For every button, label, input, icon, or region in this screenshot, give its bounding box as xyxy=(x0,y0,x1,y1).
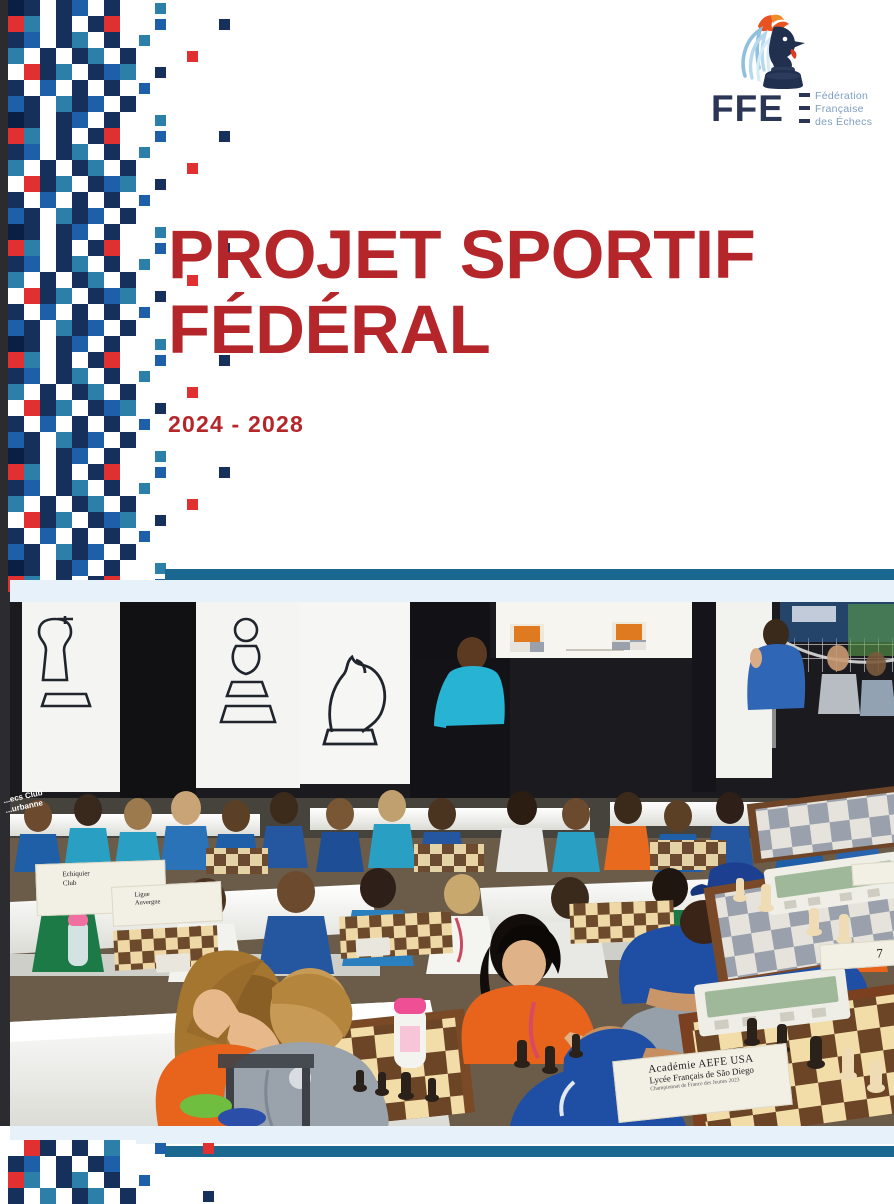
mosaic-cell xyxy=(104,544,120,560)
wordmark-bar-icon xyxy=(799,119,810,123)
mosaic-cell xyxy=(40,0,56,16)
mosaic-cell xyxy=(24,48,40,64)
mosaic-cell xyxy=(88,464,104,480)
mosaic-cell xyxy=(104,128,120,144)
mosaic-cell xyxy=(56,432,72,448)
mosaic-cell xyxy=(104,512,120,528)
mosaic-cell xyxy=(56,48,72,64)
mosaic-cell xyxy=(56,320,72,336)
mosaic-cell xyxy=(88,32,104,48)
mosaic-cell xyxy=(72,144,88,160)
mosaic-cell xyxy=(104,224,120,240)
mosaic-cell xyxy=(56,384,72,400)
mosaic-cell xyxy=(56,224,72,240)
mosaic-cell xyxy=(104,0,120,16)
mosaic-cell xyxy=(56,528,72,544)
mosaic-cell xyxy=(120,256,136,272)
mosaic-cell xyxy=(120,352,136,368)
mosaic-cell xyxy=(104,32,120,48)
mosaic-cell xyxy=(104,1156,120,1172)
mosaic-cell xyxy=(88,304,104,320)
mosaic-cell xyxy=(88,384,104,400)
mosaic-cell xyxy=(203,1143,214,1154)
mosaic-cell xyxy=(120,16,136,32)
mosaic-cell xyxy=(120,368,136,384)
logo-wordmark-line-3: des Échecs xyxy=(815,116,872,128)
mosaic-cell xyxy=(56,288,72,304)
mosaic-cell xyxy=(155,1143,166,1154)
mosaic-cell xyxy=(139,419,150,430)
logo-wordmark-line-2: Française xyxy=(815,103,864,115)
mosaic-cell xyxy=(104,240,120,256)
subtitle-years: 2024 - 2028 xyxy=(168,411,868,438)
mosaic-cell xyxy=(8,272,24,288)
mosaic-cell xyxy=(8,496,24,512)
mosaic-cell xyxy=(120,32,136,48)
mosaic-cell xyxy=(72,176,88,192)
mosaic-cell xyxy=(24,336,40,352)
mosaic-cell xyxy=(40,336,56,352)
mosaic-cell xyxy=(24,1156,40,1172)
mosaic-cell xyxy=(24,240,40,256)
mosaic-cell xyxy=(8,128,24,144)
mosaic-cell xyxy=(155,67,166,78)
mosaic-cell xyxy=(56,32,72,48)
mosaic-cell xyxy=(24,128,40,144)
mosaic-cell xyxy=(24,496,40,512)
mosaic-cell xyxy=(72,16,88,32)
mosaic-cell xyxy=(40,432,56,448)
mosaic-cell xyxy=(104,192,120,208)
mosaic-cell xyxy=(104,304,120,320)
mosaic-cell xyxy=(40,240,56,256)
mosaic-cell xyxy=(8,160,24,176)
mosaic-cell xyxy=(8,240,24,256)
mosaic-cell xyxy=(104,448,120,464)
mosaic-cell xyxy=(104,560,120,576)
mosaic-cell xyxy=(8,400,24,416)
mosaic-cell xyxy=(104,176,120,192)
mosaic-cell xyxy=(8,352,24,368)
mosaic-cell xyxy=(24,1140,40,1156)
mosaic-cell xyxy=(40,208,56,224)
mosaic-cell xyxy=(24,320,40,336)
mosaic-cell xyxy=(104,160,120,176)
logo-wordmark-line-1: Fédération xyxy=(815,90,868,102)
mosaic-cell xyxy=(187,51,198,62)
mosaic-cell xyxy=(88,480,104,496)
mosaic-cell xyxy=(88,448,104,464)
mosaic-cell xyxy=(139,147,150,158)
mosaic-cell xyxy=(56,112,72,128)
mosaic-cell xyxy=(139,35,150,46)
mosaic-cell xyxy=(8,528,24,544)
mosaic-cell xyxy=(120,112,136,128)
mosaic-cell xyxy=(56,400,72,416)
mosaic-cell xyxy=(24,144,40,160)
mosaic-cell xyxy=(72,32,88,48)
mosaic-cell xyxy=(56,240,72,256)
mosaic-cell xyxy=(8,176,24,192)
mosaic-cell xyxy=(8,1188,24,1204)
mosaic-cell xyxy=(8,320,24,336)
mosaic-cell xyxy=(40,528,56,544)
mosaic-cell xyxy=(24,16,40,32)
mosaic-cell xyxy=(72,304,88,320)
mosaic-cell xyxy=(88,240,104,256)
mosaic-cell xyxy=(104,48,120,64)
mosaic-cell xyxy=(24,192,40,208)
mosaic-cell xyxy=(104,480,120,496)
mosaic-cell xyxy=(8,224,24,240)
mosaic-cell xyxy=(104,288,120,304)
page-title: PROJET SPORTIF FÉDÉRAL xyxy=(168,218,868,367)
mosaic-cell xyxy=(120,128,136,144)
mosaic-cell xyxy=(24,208,40,224)
mosaic-cell xyxy=(120,64,136,80)
mosaic-cell xyxy=(40,384,56,400)
mosaic-cell xyxy=(24,304,40,320)
mosaic-cell xyxy=(8,368,24,384)
mosaic-cell xyxy=(56,1188,72,1204)
title-block: PROJET SPORTIF FÉDÉRAL 2024 - 2028 xyxy=(168,218,868,438)
mosaic-cell xyxy=(8,304,24,320)
mosaic-cell xyxy=(56,208,72,224)
mosaic-cell xyxy=(120,1140,136,1156)
mosaic-cell xyxy=(8,112,24,128)
mosaic-cell xyxy=(24,96,40,112)
mosaic-cell xyxy=(88,1188,104,1204)
mosaic-cell xyxy=(120,448,136,464)
mosaic-cell xyxy=(24,80,40,96)
mosaic-cell xyxy=(56,560,72,576)
checkerboard-mosaic-top xyxy=(8,0,188,592)
document-cover: FFE Fédération Française des Échecs PROJ… xyxy=(0,0,894,1194)
mosaic-cell xyxy=(120,160,136,176)
mosaic-cell xyxy=(72,1188,88,1204)
mosaic-cell xyxy=(56,64,72,80)
mosaic-cell xyxy=(24,560,40,576)
mosaic-cell xyxy=(88,144,104,160)
mosaic-cell xyxy=(72,528,88,544)
mosaic-cell xyxy=(8,432,24,448)
mosaic-cell xyxy=(120,176,136,192)
mosaic-cell xyxy=(8,256,24,272)
rooster-chess-piece-logo-icon xyxy=(727,12,809,90)
mosaic-cell xyxy=(24,512,40,528)
page-title-line-1: PROJET SPORTIF xyxy=(168,216,755,293)
mosaic-cell xyxy=(8,192,24,208)
photo-table-number-front: 7 xyxy=(819,939,894,970)
mosaic-cell xyxy=(120,400,136,416)
mosaic-cell xyxy=(120,48,136,64)
mosaic-cell xyxy=(8,416,24,432)
mosaic-cell xyxy=(104,496,120,512)
mosaic-cell xyxy=(219,467,230,478)
mosaic-cell xyxy=(56,80,72,96)
mosaic-cell xyxy=(88,400,104,416)
mosaic-cell xyxy=(88,112,104,128)
mosaic-cell xyxy=(40,1140,56,1156)
mosaic-cell xyxy=(88,16,104,32)
mosaic-cell xyxy=(104,352,120,368)
mosaic-cell xyxy=(24,384,40,400)
mosaic-cell xyxy=(203,1191,214,1202)
mosaic-cell xyxy=(72,368,88,384)
mosaic-cell xyxy=(8,144,24,160)
mosaic-cell xyxy=(56,192,72,208)
mosaic-cell xyxy=(24,288,40,304)
mosaic-cell xyxy=(72,448,88,464)
mosaic-cell xyxy=(40,1172,56,1188)
mosaic-cell xyxy=(72,224,88,240)
mosaic-cell xyxy=(56,96,72,112)
mosaic-cell xyxy=(40,560,56,576)
mosaic-cell xyxy=(88,368,104,384)
mosaic-cell xyxy=(187,163,198,174)
mosaic-cell xyxy=(88,320,104,336)
mosaic-cell xyxy=(72,288,88,304)
mosaic-cell xyxy=(219,19,230,30)
wordmark-bar-icon xyxy=(799,93,810,97)
mosaic-cell xyxy=(8,1172,24,1188)
mosaic-cell xyxy=(8,80,24,96)
mosaic-cell xyxy=(88,496,104,512)
mosaic-cell xyxy=(155,339,166,350)
mosaic-cell xyxy=(88,528,104,544)
mosaic-cell xyxy=(104,1188,120,1204)
mosaic-cell xyxy=(8,64,24,80)
mosaic-cell xyxy=(104,1140,120,1156)
mosaic-cell xyxy=(72,112,88,128)
mosaic-cell xyxy=(88,336,104,352)
mosaic-cell xyxy=(72,496,88,512)
mosaic-cell xyxy=(8,32,24,48)
mosaic-cell xyxy=(155,355,166,366)
mosaic-cell xyxy=(40,144,56,160)
mosaic-cell xyxy=(56,352,72,368)
mosaic-cell xyxy=(24,112,40,128)
mosaic-cell xyxy=(72,208,88,224)
mosaic-cell xyxy=(88,80,104,96)
mosaic-cell xyxy=(139,483,150,494)
mosaic-cell xyxy=(8,544,24,560)
mosaic-cell xyxy=(56,464,72,480)
mosaic-cell xyxy=(56,448,72,464)
mosaic-cell xyxy=(187,499,198,510)
mosaic-cell xyxy=(104,384,120,400)
mosaic-cell xyxy=(40,464,56,480)
mosaic-cell xyxy=(120,384,136,400)
mosaic-cell xyxy=(88,224,104,240)
mosaic-cell xyxy=(88,1140,104,1156)
mosaic-cell xyxy=(88,0,104,16)
mosaic-cell xyxy=(104,80,120,96)
teal-rule-top xyxy=(165,569,894,580)
mosaic-cell xyxy=(72,1156,88,1172)
mosaic-cell xyxy=(40,128,56,144)
mosaic-cell xyxy=(88,48,104,64)
mosaic-cell xyxy=(56,1140,72,1156)
mosaic-cell xyxy=(56,496,72,512)
mosaic-cell xyxy=(56,368,72,384)
mosaic-cell xyxy=(155,563,166,574)
mosaic-cell xyxy=(72,352,88,368)
mosaic-cell xyxy=(40,96,56,112)
mosaic-cell xyxy=(56,160,72,176)
mosaic-cell xyxy=(139,1175,150,1186)
mosaic-cell xyxy=(155,227,166,238)
mosaic-cell xyxy=(8,1156,24,1172)
mosaic-cell xyxy=(88,560,104,576)
mosaic-cell xyxy=(72,256,88,272)
mosaic-cell xyxy=(24,1188,40,1204)
mosaic-cell xyxy=(88,272,104,288)
teal-rule-bottom xyxy=(165,1146,894,1157)
mosaic-cell xyxy=(72,272,88,288)
mosaic-cell xyxy=(120,320,136,336)
mosaic-cell xyxy=(40,416,56,432)
logo-wordmark: Fédération Française des Échecs xyxy=(799,90,872,129)
mosaic-cell xyxy=(104,144,120,160)
mosaic-cell xyxy=(120,512,136,528)
mosaic-cell xyxy=(8,16,24,32)
mosaic-cell xyxy=(139,83,150,94)
mosaic-cell xyxy=(88,432,104,448)
mosaic-cell xyxy=(88,208,104,224)
photo-table-number-back: 6 xyxy=(851,860,894,886)
mosaic-cell xyxy=(40,112,56,128)
mosaic-cell xyxy=(104,432,120,448)
mosaic-cell xyxy=(88,288,104,304)
mosaic-cell xyxy=(72,80,88,96)
mosaic-cell xyxy=(40,16,56,32)
mosaic-cell xyxy=(40,176,56,192)
mosaic-cell xyxy=(88,544,104,560)
mosaic-cell xyxy=(155,19,166,30)
mosaic-cell xyxy=(139,531,150,542)
mosaic-cell xyxy=(40,1156,56,1172)
mosaic-cell xyxy=(104,16,120,32)
mosaic-cell xyxy=(40,272,56,288)
mosaic-cell xyxy=(56,416,72,432)
mosaic-cell xyxy=(155,515,166,526)
mosaic-cell xyxy=(40,64,56,80)
mosaic-cell xyxy=(72,320,88,336)
mosaic-cell xyxy=(104,112,120,128)
mosaic-cell xyxy=(72,160,88,176)
mosaic-cell xyxy=(56,256,72,272)
mosaic-cell xyxy=(56,176,72,192)
mosaic-cell xyxy=(8,208,24,224)
mosaic-cell xyxy=(40,288,56,304)
mosaic-cell xyxy=(24,416,40,432)
ffe-logo: FFE Fédération Française des Échecs xyxy=(711,12,876,130)
mosaic-cell xyxy=(56,16,72,32)
mosaic-cell xyxy=(104,464,120,480)
mosaic-cell xyxy=(40,512,56,528)
mosaic-cell xyxy=(155,3,166,14)
mosaic-cell xyxy=(72,240,88,256)
mosaic-cell xyxy=(40,400,56,416)
mosaic-cell xyxy=(24,32,40,48)
mosaic-cell xyxy=(155,131,166,142)
mosaic-cell xyxy=(56,336,72,352)
mosaic-cell xyxy=(24,272,40,288)
mosaic-cell xyxy=(104,64,120,80)
photo-table-sign-left-2: Ligue Auvergne xyxy=(111,881,223,927)
mosaic-cell xyxy=(8,1140,24,1156)
mosaic-cell xyxy=(40,160,56,176)
mosaic-cell xyxy=(104,368,120,384)
mosaic-cell xyxy=(40,368,56,384)
mosaic-cell xyxy=(88,160,104,176)
mosaic-cell xyxy=(139,371,150,382)
mosaic-cell xyxy=(40,1188,56,1204)
mosaic-cell xyxy=(24,400,40,416)
mosaic-cell xyxy=(56,304,72,320)
mosaic-cell xyxy=(72,48,88,64)
mosaic-cell xyxy=(88,64,104,80)
mosaic-cell xyxy=(72,432,88,448)
mosaic-cell xyxy=(120,432,136,448)
mosaic-cell xyxy=(40,320,56,336)
mosaic-cell xyxy=(72,384,88,400)
mosaic-cell xyxy=(139,259,150,270)
mosaic-cell xyxy=(8,464,24,480)
mosaic-cell xyxy=(24,352,40,368)
mosaic-cell xyxy=(72,128,88,144)
mosaic-cell xyxy=(155,179,166,190)
mosaic-cell xyxy=(155,467,166,478)
mosaic-cell xyxy=(40,192,56,208)
mosaic-cell xyxy=(40,448,56,464)
mosaic-cell xyxy=(120,480,136,496)
mosaic-cell xyxy=(56,480,72,496)
mosaic-cell xyxy=(120,336,136,352)
mosaic-cell xyxy=(40,32,56,48)
mosaic-cell xyxy=(72,1140,88,1156)
mosaic-cell xyxy=(120,0,136,16)
mosaic-cell xyxy=(72,96,88,112)
mosaic-cell xyxy=(104,528,120,544)
mosaic-cell xyxy=(120,496,136,512)
mosaic-cell xyxy=(104,1172,120,1188)
mosaic-cell xyxy=(104,336,120,352)
mosaic-cell xyxy=(104,208,120,224)
mosaic-cell xyxy=(155,403,166,414)
mosaic-cell xyxy=(8,288,24,304)
mosaic-cell xyxy=(40,48,56,64)
logo-acronym: FFE xyxy=(711,90,784,127)
mosaic-cell xyxy=(72,1172,88,1188)
mosaic-cell xyxy=(56,128,72,144)
mosaic-cell xyxy=(24,1172,40,1188)
mosaic-cell xyxy=(72,512,88,528)
mosaic-cell xyxy=(139,307,150,318)
mosaic-cell xyxy=(88,512,104,528)
mosaic-cell xyxy=(24,256,40,272)
mosaic-cell xyxy=(56,1172,72,1188)
wordmark-bar-icon xyxy=(799,106,810,110)
mosaic-cell xyxy=(40,224,56,240)
mosaic-cell xyxy=(24,464,40,480)
mosaic-cell xyxy=(120,560,136,576)
mosaic-cell xyxy=(40,304,56,320)
mosaic-cell xyxy=(72,544,88,560)
mosaic-cell xyxy=(120,1188,136,1204)
mosaic-cell xyxy=(88,1156,104,1172)
